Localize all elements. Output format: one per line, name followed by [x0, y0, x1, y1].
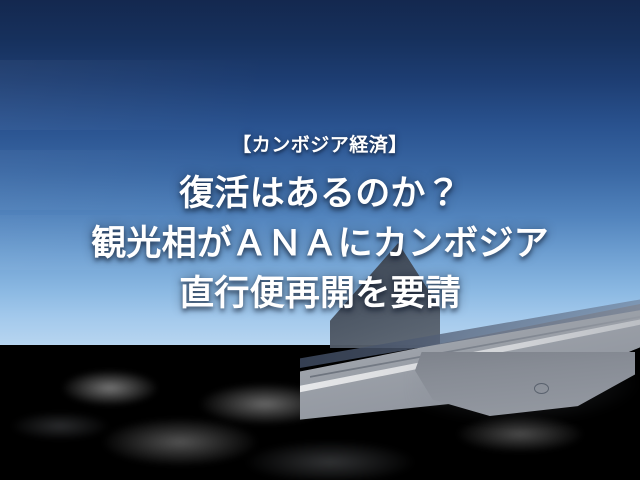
background-photo: [0, 0, 640, 480]
wing-flap-marking-icon: [534, 383, 549, 394]
article-title-card: 【カンボジア経済】 復活はあるのか？ 観光相がＡＮＡにカンボジア 直行便再開を要…: [0, 0, 640, 480]
winglet-fin: [330, 243, 440, 348]
airplane-wing: [0, 0, 640, 480]
